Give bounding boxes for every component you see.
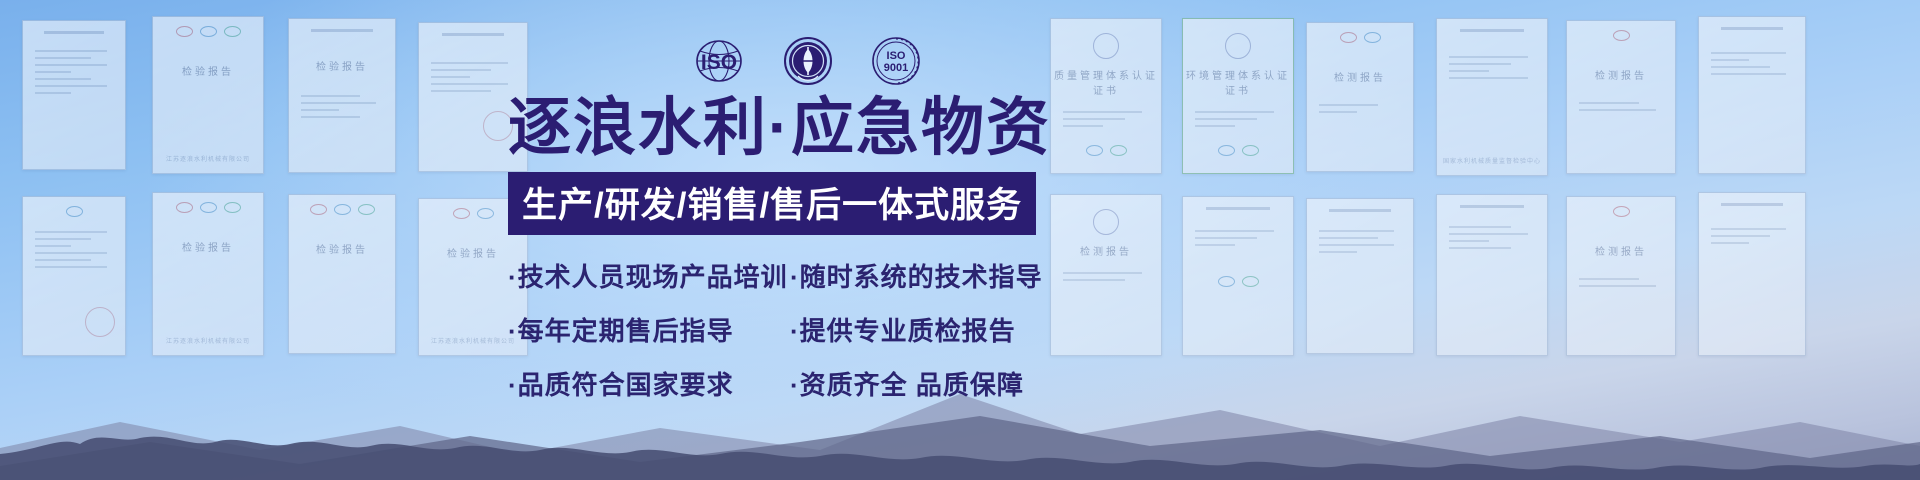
ccc-seal-icon [782, 36, 834, 86]
feature-row: ·技术人员现场产品培训 ·随时系统的技术指导 [508, 257, 1128, 294]
certificate-title: 质量管理体系认证证书 [1051, 67, 1161, 97]
feature-list: ·技术人员现场产品培训 ·随时系统的技术指导 ·每年定期售后指导 ·提供专业质检… [508, 257, 1128, 402]
feature-item: ·每年定期售后指导 [508, 311, 790, 348]
certificate-title: 检验报告 [289, 241, 395, 256]
certificate-title: 检验报告 [289, 58, 395, 73]
feature-item: ·技术人员现场产品培训 [508, 257, 790, 294]
certificate-footer: 江苏逐浪水利机械有限公司 [153, 154, 263, 163]
treeline-silhouette [0, 410, 1920, 480]
promo-banner: 检验报告 江苏逐浪水利机械有限公司 检验报告 质量管理体系认证证书 环境管理体系… [0, 0, 1920, 480]
banner-main-title: 逐浪水利·应急物资 [508, 96, 1128, 160]
certificate-title: 检测报告 [1567, 67, 1675, 82]
banner-content: 逐浪水利·应急物资 生产/研发/销售/售后一体式服务 ·技术人员现场产品培训 ·… [508, 96, 1128, 402]
certificate-thumb: 检验报告 [288, 18, 396, 173]
iso9001-icon: ISO 9001 [868, 36, 924, 86]
feature-item: ·资质齐全 品质保障 [790, 365, 1024, 402]
iso-globe-icon: ISO [690, 38, 748, 84]
certificate-title: 检验报告 [153, 239, 263, 254]
feature-row: ·每年定期售后指导 ·提供专业质检报告 [508, 311, 1128, 348]
certification-badges: ISO ISO 9001 [690, 36, 924, 91]
certificate-thumb: 检测报告 [1306, 22, 1414, 172]
certificate-thumb: 检测报告 [1566, 20, 1676, 174]
certificate-title: 检验报告 [153, 63, 263, 78]
banner-subtitle-bar: 生产/研发/销售/售后一体式服务 [508, 172, 1036, 235]
svg-text:ISO: ISO [887, 50, 906, 62]
certificate-title: 环境管理体系认证证书 [1183, 67, 1293, 97]
ccc-seal-badge [782, 36, 834, 91]
feature-row: ·品质符合国家要求 ·资质齐全 品质保障 [508, 365, 1128, 402]
certificate-thumb: 检验报告 江苏逐浪水利机械有限公司 [152, 16, 264, 174]
svg-text:9001: 9001 [884, 62, 908, 74]
feature-item: ·提供专业质检报告 [790, 311, 1016, 348]
certificate-thumb: 国家水利机械质量监督检验中心 [1436, 18, 1548, 176]
feature-item: ·品质符合国家要求 [508, 365, 790, 402]
certificate-thumb [22, 20, 126, 170]
feature-item: ·随时系统的技术指导 [790, 257, 1043, 294]
iso9001-badge: ISO 9001 [868, 36, 924, 91]
certificate-thumb [1698, 16, 1806, 174]
iso-globe-badge: ISO [690, 38, 748, 89]
iso-badge-label: ISO [701, 51, 737, 74]
certificate-thumb: 环境管理体系认证证书 [1182, 18, 1294, 174]
certificate-title: 检测报告 [1307, 69, 1413, 84]
certificate-footer: 国家水利机械质量监督检验中心 [1437, 156, 1547, 165]
certificate-title: 检测报告 [1567, 243, 1675, 258]
